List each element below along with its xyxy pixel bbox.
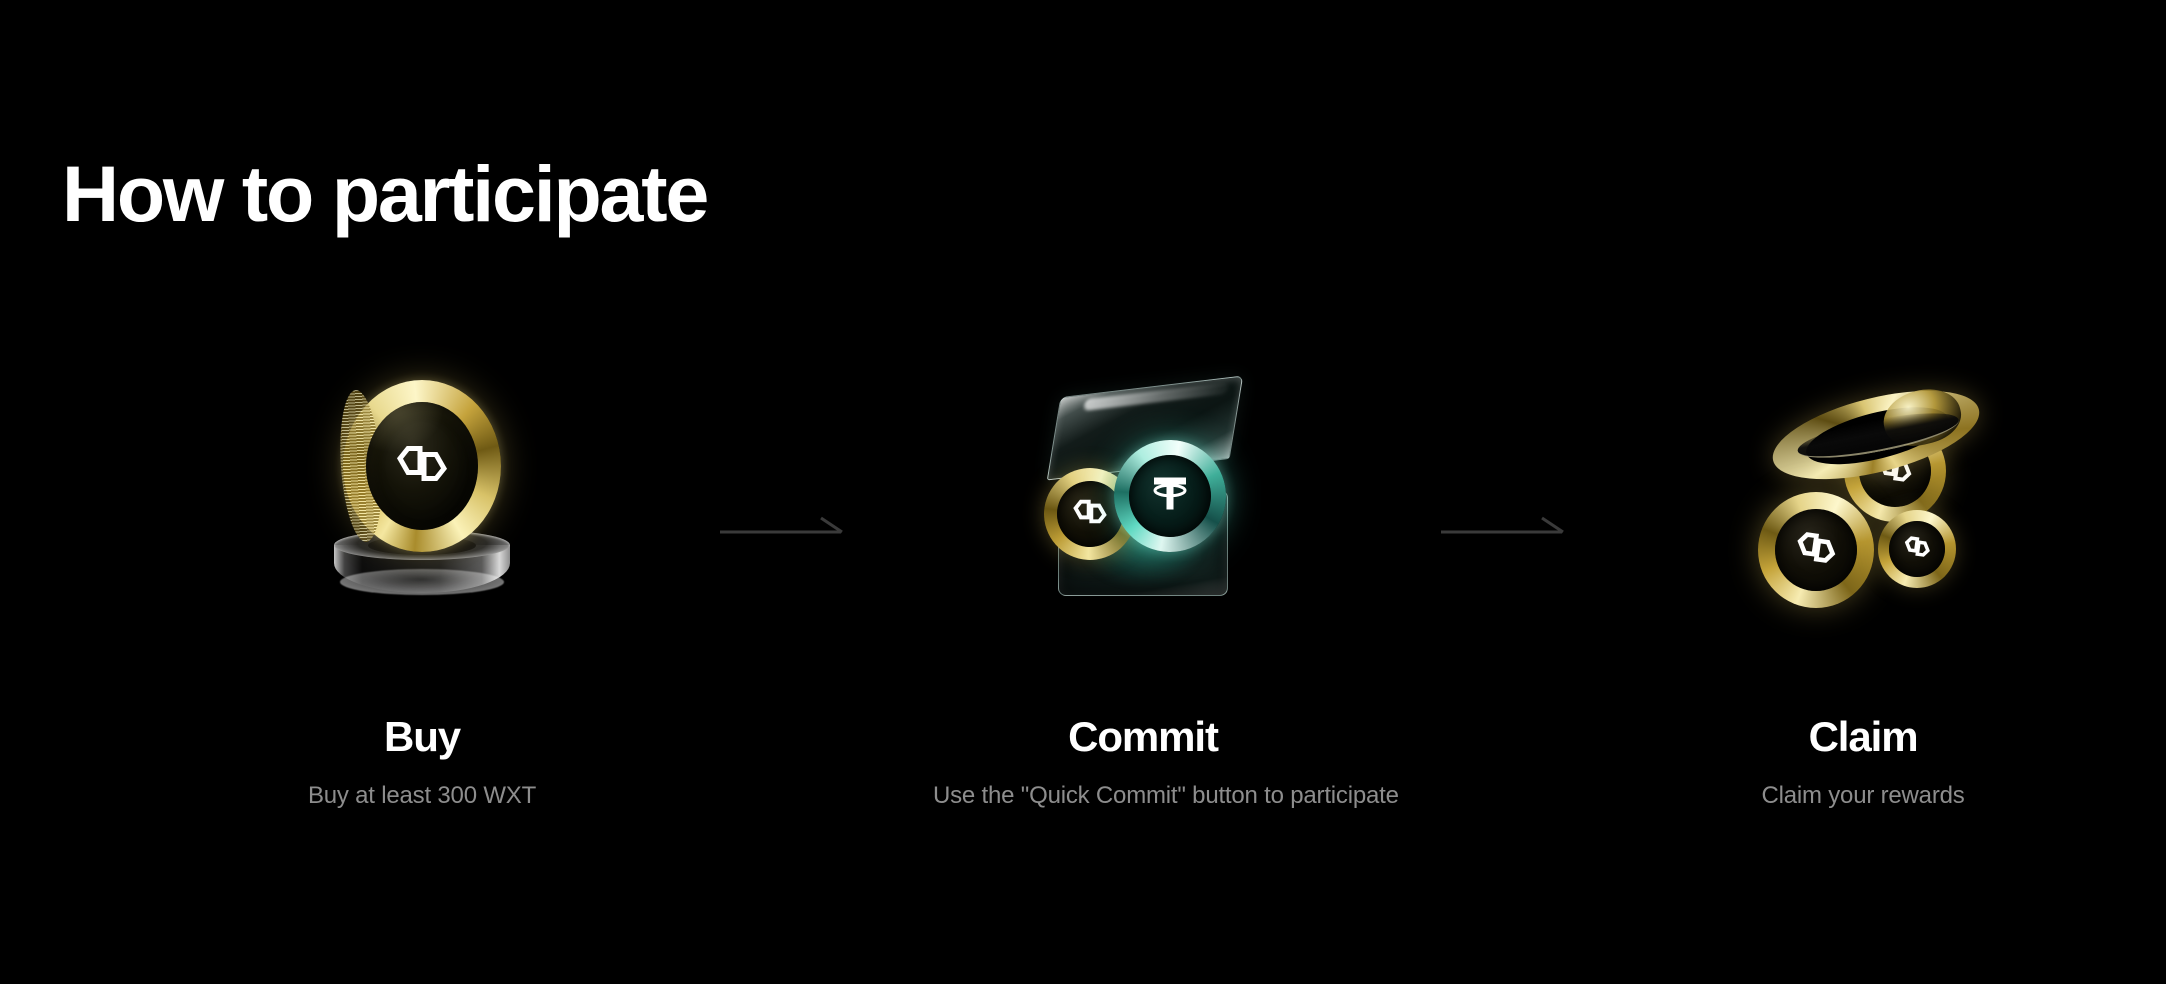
gold-wxt-coin-on-glass-pedestal-icon — [212, 380, 632, 610]
wxt-coin-icon — [1878, 510, 1956, 588]
step-title-commit: Commit — [933, 716, 1353, 758]
wxt-logo-icon — [1902, 534, 1931, 563]
wxt-coin-icon — [343, 380, 501, 552]
wxt-logo-icon — [1073, 498, 1107, 531]
tether-logo-icon — [1148, 474, 1192, 519]
how-to-participate-section: How to participate — [0, 0, 2166, 984]
step-illustration-claim — [1653, 380, 2073, 610]
step-description-claim: Claim your rewards — [1653, 782, 2073, 811]
step-title-claim: Claim — [1653, 716, 2073, 758]
glass-chest-with-wxt-and-usdt-coins-icon — [933, 380, 1353, 610]
page-title: How to participate — [62, 154, 707, 233]
arrow-right-icon — [1441, 512, 1565, 544]
step-description-buy: Buy at least 300 WXT — [212, 782, 632, 811]
wxt-coin-icon — [1758, 492, 1874, 608]
step-card-claim[interactable]: Claim Claim your rewards — [1653, 380, 2073, 811]
wxt-logo-icon — [1794, 528, 1839, 571]
arrow-right-icon — [720, 512, 844, 544]
step-card-buy[interactable]: Buy Buy at least 300 WXT — [212, 380, 632, 811]
wxt-logo-icon — [396, 443, 448, 490]
glass-chest-icon — [1038, 386, 1248, 606]
step-illustration-commit — [933, 380, 1353, 610]
step-card-commit[interactable]: Commit Use the "Quick Commit" button to … — [933, 380, 1353, 811]
step-title-buy: Buy — [212, 716, 632, 758]
step-illustration-buy — [212, 380, 632, 610]
ringed-gold-coins-cluster-icon — [1653, 380, 2073, 610]
coin-cluster-icon — [1748, 382, 1978, 602]
steps-row: Buy Buy at least 300 WXT — [0, 380, 2166, 880]
step-description-commit: Use the "Quick Commit" button to partici… — [933, 782, 1353, 811]
